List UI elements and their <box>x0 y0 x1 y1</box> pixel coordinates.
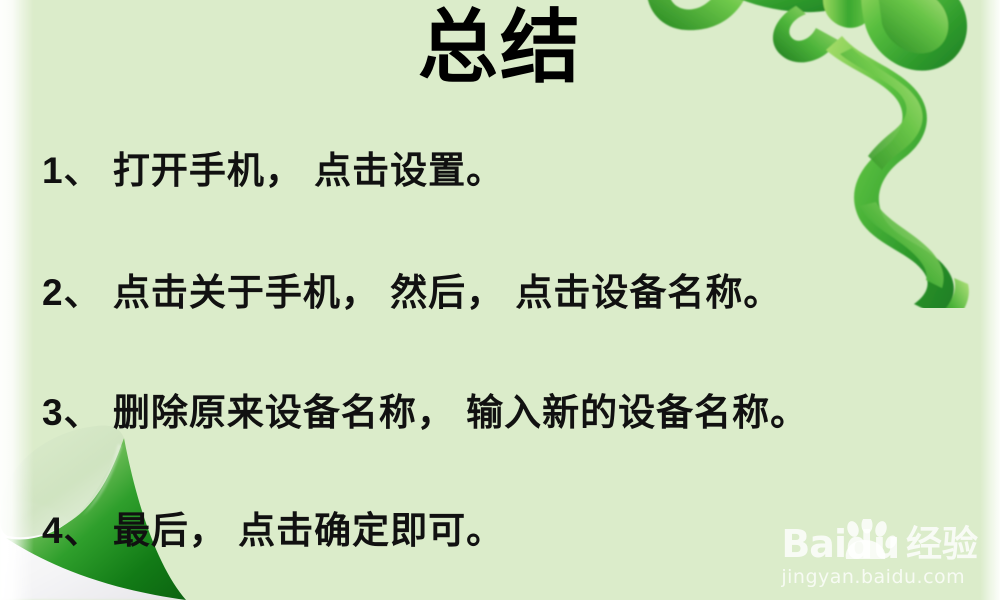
list-item: 2、 点击关于手机， 然后， 点击设备名称。 <box>42 262 972 316</box>
slide-canvas: 总结 1、 打开手机， 点击设置。 2、 点击关于手机， 然后， 点击设备名称。… <box>0 0 1000 600</box>
list-item: 4、 最后， 点击确定即可。 <box>42 500 972 554</box>
slide-title: 总结 <box>0 2 1000 94</box>
watermark-url: jingyan.baidu.com <box>781 566 978 588</box>
list-item: 3、 删除原来设备名称， 输入新的设备名称。 <box>42 382 972 436</box>
list-item: 1、 打开手机， 点击设置。 <box>42 140 972 194</box>
slide-body: 1、 打开手机， 点击设置。 2、 点击关于手机， 然后， 点击设备名称。 3、… <box>42 140 972 554</box>
